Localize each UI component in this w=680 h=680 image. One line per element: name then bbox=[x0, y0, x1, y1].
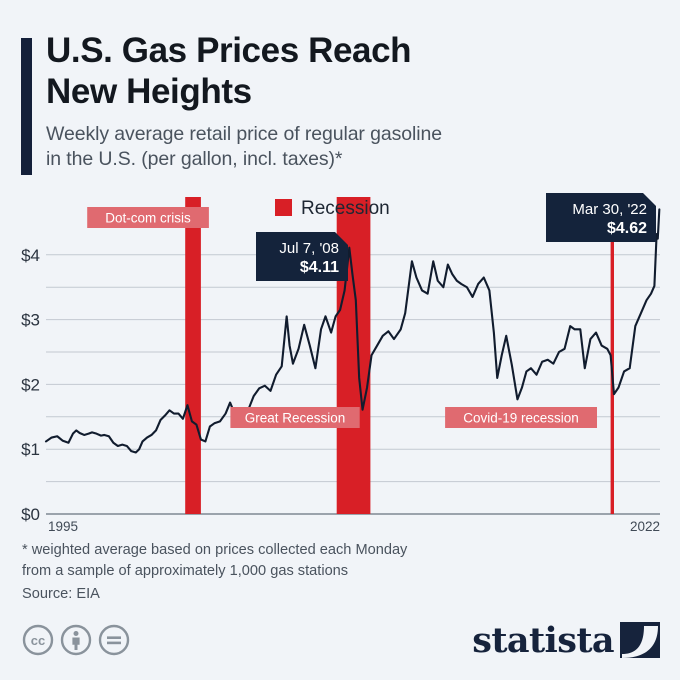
legend-swatch-recession bbox=[275, 199, 292, 216]
source-label: Source: EIA bbox=[22, 586, 100, 602]
creative-commons-icon[interactable]: cc bbox=[22, 624, 54, 656]
y-axis-tick: $4 bbox=[21, 246, 40, 265]
footnote: * weighted average based on prices colle… bbox=[22, 540, 642, 581]
recession-band-label: Covid-19 recession bbox=[445, 407, 597, 428]
page-subtitle: Weekly average retail price of regular g… bbox=[46, 122, 646, 172]
statista-mark-icon bbox=[620, 620, 660, 660]
creative-commons-icons: cc bbox=[22, 624, 130, 656]
svg-text:Dot-com crisis: Dot-com crisis bbox=[105, 211, 191, 226]
svg-text:Great Recession: Great Recession bbox=[245, 411, 346, 426]
annotation-value: $4.11 bbox=[300, 259, 339, 276]
footer-bar: cc statista bbox=[0, 614, 680, 680]
accent-bar bbox=[21, 38, 32, 175]
annotation-tooltip: Mar 30, '22$4.62 bbox=[546, 193, 656, 242]
y-axis-tick: $1 bbox=[21, 440, 40, 459]
chart-legend: Recession bbox=[275, 198, 390, 219]
x-axis-labels: 19952022 bbox=[48, 519, 660, 534]
x-axis-tick: 2022 bbox=[630, 519, 660, 534]
y-axis-tick: $0 bbox=[21, 505, 40, 524]
annotation-date: Mar 30, '22 bbox=[572, 201, 647, 218]
svg-text:cc: cc bbox=[31, 633, 45, 648]
statista-logo: statista bbox=[472, 620, 660, 660]
y-axis-tick: $2 bbox=[21, 375, 40, 394]
annotation-tooltip: Jul 7, '08$4.11 bbox=[256, 232, 348, 281]
title-block: U.S. Gas Prices Reach New Heights Weekly… bbox=[46, 30, 646, 172]
header: U.S. Gas Prices Reach New Heights Weekly… bbox=[0, 0, 680, 185]
legend-label-recession: Recession bbox=[301, 198, 390, 219]
annotation-value: $4.62 bbox=[607, 220, 647, 237]
svg-text:Covid-19 recession: Covid-19 recession bbox=[463, 411, 579, 426]
recession-band bbox=[185, 197, 201, 514]
y-axis-labels: $0$1$2$3$4 bbox=[21, 246, 40, 524]
x-axis-tick: 1995 bbox=[48, 519, 78, 534]
annotation-date: Jul 7, '08 bbox=[279, 240, 339, 257]
recession-band-label: Great Recession bbox=[230, 407, 359, 428]
statista-wordmark: statista bbox=[472, 623, 614, 658]
gas-price-line-chart: $0$1$2$3$4 19952022 Dot-com crisisGreat … bbox=[0, 185, 680, 545]
recession-band-label: Dot-com crisis bbox=[87, 207, 209, 228]
attribution-icon[interactable] bbox=[60, 624, 92, 656]
chart-container: $0$1$2$3$4 19952022 Dot-com crisisGreat … bbox=[0, 185, 680, 545]
page-title: U.S. Gas Prices Reach New Heights bbox=[46, 30, 646, 113]
y-axis-tick: $3 bbox=[21, 311, 40, 330]
no-derivatives-icon[interactable] bbox=[98, 624, 130, 656]
recession-bands bbox=[185, 197, 614, 514]
